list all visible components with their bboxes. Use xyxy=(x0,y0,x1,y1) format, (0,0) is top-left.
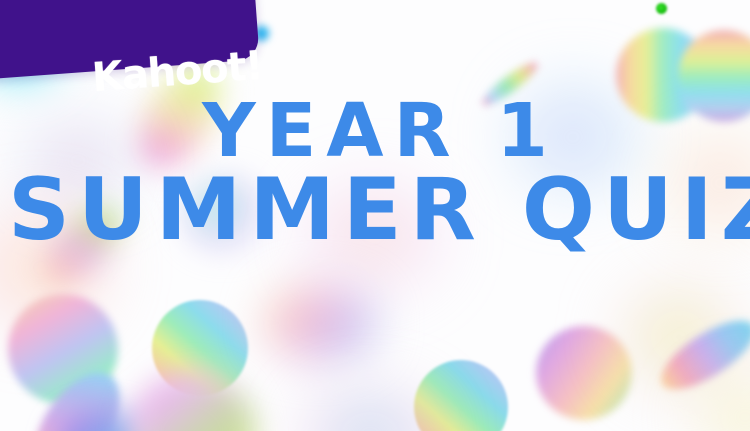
confetti-blob xyxy=(266,286,376,360)
kahoot-quiz-banner: Kahoot! YEAR 1 SUMMER QUIZ xyxy=(0,0,750,431)
accent-dot xyxy=(656,3,667,14)
confetti-blob xyxy=(182,176,270,254)
confetti-blob xyxy=(298,176,448,296)
confetti-circle xyxy=(128,372,256,431)
confetti-blob xyxy=(18,118,138,204)
kahoot-logo-wordmark[interactable]: Kahoot! xyxy=(91,46,264,98)
confetti-blob xyxy=(660,128,750,238)
